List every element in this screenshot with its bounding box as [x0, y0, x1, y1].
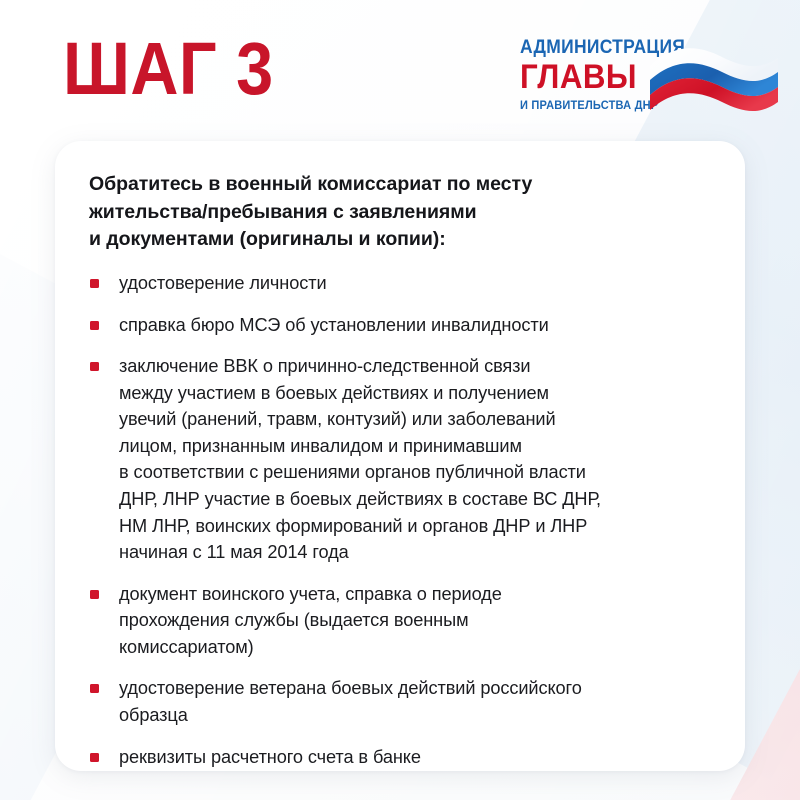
list-item-line: документ воинского учета, справка о пери…: [119, 581, 711, 608]
organization-logo: АДМИНИСТРАЦИЯ ГЛАВЫ И ПРАВИТЕЛЬСТВА ДНР: [520, 32, 778, 132]
russian-flag-wave-icon: [648, 40, 780, 120]
list-item: справка бюро МСЭ об установлении инвалид…: [89, 312, 711, 339]
list-item: заключение ВВК о причинно-следственной с…: [89, 353, 711, 566]
lead-line: жительства/пребывания с заявлениями: [89, 199, 711, 227]
list-item-line: ДНР, ЛНР участие в боевых действиях в со…: [119, 486, 711, 513]
list-item: удостоверение личности: [89, 270, 711, 297]
square-bullet-icon: [90, 321, 99, 330]
square-bullet-icon: [90, 753, 99, 762]
lead-line: и документами (оригиналы и копии):: [89, 226, 711, 254]
square-bullet-icon: [90, 279, 99, 288]
list-item-line: заключение ВВК о причинно-следственной с…: [119, 353, 711, 380]
list-item-line: начиная с 11 мая 2014 года: [119, 539, 711, 566]
list-item: удостоверение ветерана боевых действий р…: [89, 675, 711, 728]
documents-list: удостоверение личности справка бюро МСЭ …: [89, 270, 711, 770]
list-item-line: справка бюро МСЭ об установлении инвалид…: [119, 312, 711, 339]
list-item-line: удостоверение ветерана боевых действий р…: [119, 675, 711, 702]
square-bullet-icon: [90, 684, 99, 693]
list-item: реквизиты расчетного счета в банке: [89, 744, 711, 771]
lead-line: Обратитесь в военный комиссариат по мест…: [89, 171, 711, 199]
card-inner: Обратитесь в военный комиссариат по мест…: [55, 141, 745, 771]
content-card: Обратитесь в военный комиссариат по мест…: [55, 141, 745, 771]
square-bullet-icon: [90, 362, 99, 371]
list-item-line: увечий (ранений, травм, контузий) или за…: [119, 406, 711, 433]
square-bullet-icon: [90, 590, 99, 599]
list-item-line: НМ ЛНР, воинских формирований и органов …: [119, 513, 711, 540]
step-title: ШАГ 3: [63, 32, 274, 106]
list-item: документ воинского учета, справка о пери…: [89, 581, 711, 661]
list-item-line: прохождения службы (выдается военным: [119, 607, 711, 634]
card-lead-paragraph: Обратитесь в военный комиссариат по мест…: [89, 171, 711, 254]
list-item-line: удостоверение личности: [119, 270, 711, 297]
list-item-line: между участием в боевых действиях и полу…: [119, 380, 711, 407]
infographic-canvas: ШАГ 3 АДМИНИСТРАЦИЯ ГЛАВЫ И ПРАВИТЕЛЬСТВ…: [0, 0, 800, 800]
list-item-line: образца: [119, 702, 711, 729]
list-item-line: реквизиты расчетного счета в банке: [119, 744, 711, 771]
list-item-line: комиссариатом): [119, 634, 711, 661]
list-item-line: в соответствии с решениями органов публи…: [119, 459, 711, 486]
list-item-line: лицом, признанным инвалидом и принимавши…: [119, 433, 711, 460]
header: ШАГ 3 АДМИНИСТРАЦИЯ ГЛАВЫ И ПРАВИТЕЛЬСТВ…: [0, 0, 800, 140]
